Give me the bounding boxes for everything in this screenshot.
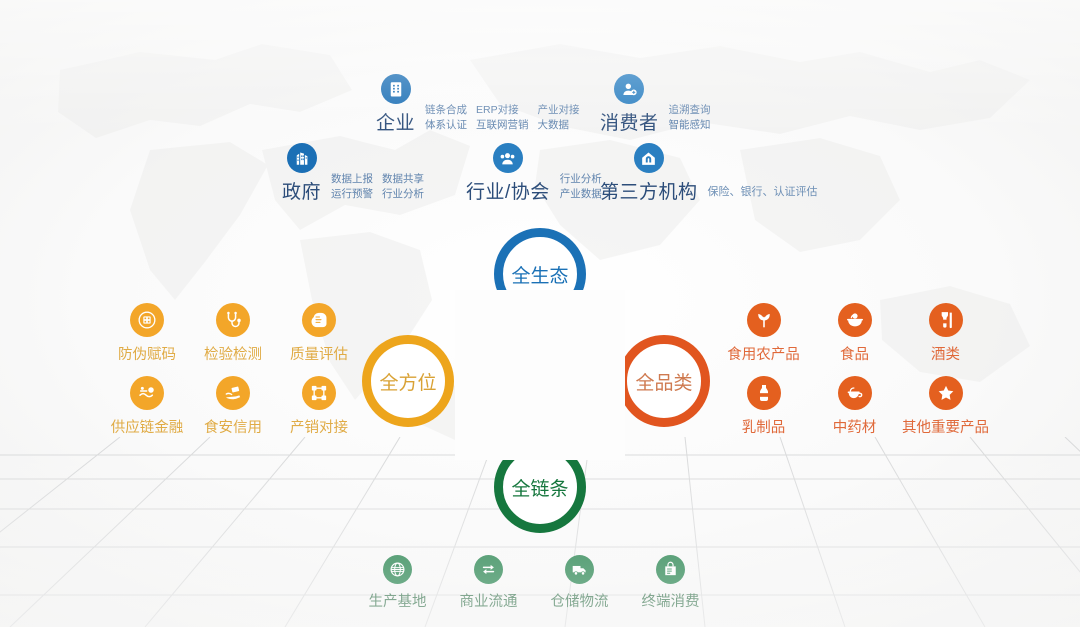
chain-label: 仓储物流 [551, 590, 609, 611]
ring-all-round-label: 全方位 [379, 368, 436, 395]
capability-label: 供应链金融 [111, 416, 184, 437]
capability-item[interactable]: 检验检测 [190, 303, 276, 376]
enterprise-sub-2-0: 产业对接 [538, 103, 580, 118]
capability-label: 食安信用 [204, 416, 262, 437]
globe-factory-icon [383, 555, 412, 584]
chain-item[interactable]: 终端消费 [625, 555, 716, 617]
category-label: 中药材 [833, 416, 877, 437]
consumer-sub-0-1: 智能感知 [669, 118, 711, 133]
category-item[interactable]: 乳制品 [718, 376, 809, 449]
shopping-bag-icon [656, 555, 685, 584]
stethoscope-icon [216, 303, 250, 337]
category-label: 其他重要产品 [902, 416, 989, 437]
ring-whole-chain-label: 全链条 [511, 474, 568, 501]
enterprise-sub-0-0: 链条合成 [425, 103, 467, 118]
exchange-arrows-icon [474, 555, 503, 584]
brain-quality-icon [302, 303, 336, 337]
third-party-sub-0-0: 保险、银行、认证评估 [708, 185, 818, 201]
ring-all-round[interactable]: 全方位 [362, 335, 454, 427]
capability-label: 产销对接 [290, 416, 348, 437]
enterprise-sub-2-1: 大数据 [538, 118, 580, 133]
industry-sub-0-1: 产业数据 [560, 187, 602, 202]
categories-cluster: 食用农产品 食品 酒类 乳制品 中药材 [718, 303, 991, 449]
capability-item[interactable]: 食安信用 [190, 376, 276, 449]
government-building-icon [287, 143, 317, 173]
chain-label: 生产基地 [369, 590, 427, 611]
category-item[interactable]: 酒类 [900, 303, 991, 376]
building-icon [381, 74, 411, 104]
finance-chain-icon [130, 376, 164, 410]
category-label: 食用农产品 [727, 343, 800, 364]
government-sub-1-1: 行业分析 [382, 187, 424, 202]
ring-all-categories-label: 全品类 [635, 368, 692, 395]
user-plus-icon [614, 74, 644, 104]
category-label: 食品 [840, 343, 869, 364]
capability-item[interactable]: 供应链金融 [104, 376, 190, 449]
category-item[interactable]: 其他重要产品 [900, 376, 991, 449]
truck-icon [565, 555, 594, 584]
ring-connector-notches [455, 290, 625, 460]
government-sub-0-1: 运行预警 [331, 187, 373, 202]
capability-item[interactable]: 产销对接 [276, 376, 362, 449]
people-group-icon [493, 143, 523, 173]
chain-label: 终端消费 [642, 590, 700, 611]
category-item[interactable]: 食品 [809, 303, 900, 376]
chain-label: 商业流通 [460, 590, 518, 611]
participant-enterprise-label: 企业 [376, 108, 415, 135]
participant-government[interactable]: 政府 数据上报 运行预警 数据共享 行业分析 [282, 143, 424, 204]
participant-government-label: 政府 [282, 177, 321, 204]
capability-label: 防伪赋码 [118, 343, 176, 364]
credit-hand-icon [216, 376, 250, 410]
government-sub-1-0: 数据共享 [382, 172, 424, 187]
chain-cluster: 生产基地 商业流通 仓储物流 终端消费 [352, 555, 716, 617]
sprout-icon [747, 303, 781, 337]
network-link-icon [302, 376, 336, 410]
chain-item[interactable]: 商业流通 [443, 555, 534, 617]
ring-all-categories[interactable]: 全品类 [618, 335, 710, 427]
enterprise-sub-1-0: ERP对接 [476, 103, 529, 118]
home-shield-icon [634, 143, 664, 173]
chain-item[interactable]: 生产基地 [352, 555, 443, 617]
bottle-icon [929, 303, 963, 337]
capability-label: 质量评估 [290, 343, 348, 364]
enterprise-sub-1-1: 互联网营销 [476, 118, 529, 133]
consumer-sub-0-0: 追溯查询 [669, 103, 711, 118]
industry-sub-0-0: 行业分析 [560, 172, 602, 187]
capabilities-cluster: 防伪赋码 检验检测 质量评估 供应链金融 食安信用 [104, 303, 362, 449]
enterprise-sub-0-1: 体系认证 [425, 118, 467, 133]
category-item[interactable]: 中药材 [809, 376, 900, 449]
chain-item[interactable]: 仓储物流 [534, 555, 625, 617]
participant-consumer-label: 消费者 [600, 108, 659, 135]
participant-industry-association[interactable]: 行业/协会 行业分析 产业数据 [466, 143, 602, 204]
participant-consumer[interactable]: 消费者 追溯查询 智能感知 [600, 74, 711, 135]
government-sub-0-0: 数据上报 [331, 172, 373, 187]
milk-bottle-icon [747, 376, 781, 410]
participant-third-party-label: 第三方机构 [600, 177, 698, 204]
category-item[interactable]: 食用农产品 [718, 303, 809, 376]
participant-industry-association-label: 行业/协会 [466, 177, 550, 204]
ring-whole-ecosystem-label: 全生态 [511, 261, 568, 288]
herb-pot-icon [838, 376, 872, 410]
category-label: 酒类 [931, 343, 960, 364]
infographic-canvas: 企业 链条合成 体系认证 ERP对接 互联网营销 产业对接 大数据 消费者 [0, 0, 1080, 627]
participant-third-party[interactable]: 第三方机构 保险、银行、认证评估 [600, 143, 818, 204]
capability-item[interactable]: 质量评估 [276, 303, 362, 376]
category-label: 乳制品 [742, 416, 786, 437]
capability-label: 检验检测 [204, 343, 262, 364]
star-icon [929, 376, 963, 410]
participant-enterprise[interactable]: 企业 链条合成 体系认证 ERP对接 互联网营销 产业对接 大数据 [376, 74, 580, 135]
qr-code-icon [130, 303, 164, 337]
capability-item[interactable]: 防伪赋码 [104, 303, 190, 376]
food-bowl-icon [838, 303, 872, 337]
